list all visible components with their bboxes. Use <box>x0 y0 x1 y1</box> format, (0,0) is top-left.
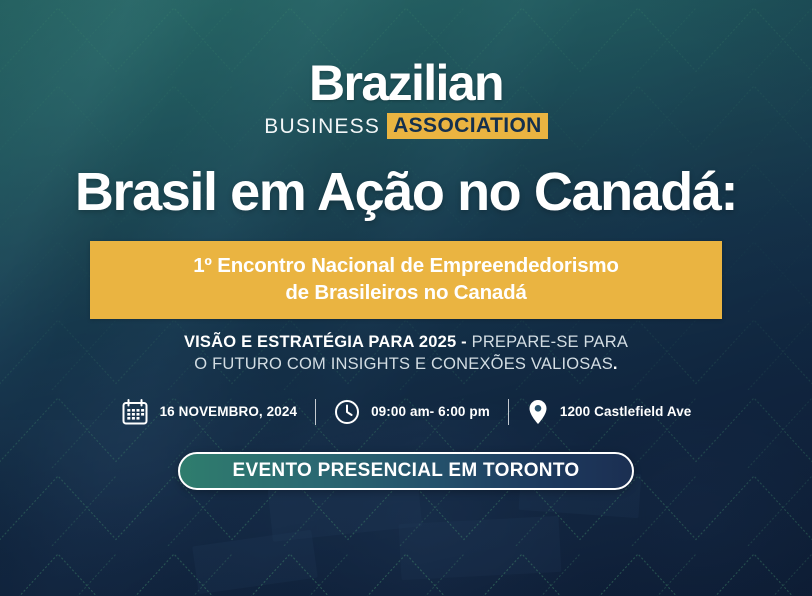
tagline-light-line-2: O FUTURO COM INSIGHTS E CONEXÕES VALIOSA… <box>194 355 613 373</box>
poster-content: Brazilian BUSINESS ASSOCIATION Brasil em… <box>0 0 812 596</box>
logo-business-text: BUSINESS <box>264 116 380 137</box>
map-pin-icon <box>527 398 549 426</box>
event-location-item: 1200 Castlefield Ave <box>527 398 692 426</box>
tagline-strong: VISÃO E ESTRATÉGIA PARA 2025 - <box>184 333 467 351</box>
event-subtitle-band: 1º Encontro Nacional de Empreendedorismo… <box>90 241 722 319</box>
cta-button-label: EVENTO PRESENCIAL EM TORONTO <box>233 460 580 482</box>
tagline-period: . <box>613 355 618 373</box>
details-divider <box>508 399 509 425</box>
logo-subline: BUSINESS ASSOCIATION <box>264 113 548 139</box>
cta-button[interactable]: EVENTO PRESENCIAL EM TORONTO <box>178 452 634 490</box>
brand-logo: Brazilian BUSINESS ASSOCIATION <box>264 58 548 139</box>
event-date-item: 16 NOVEMBRO, 2024 <box>121 398 298 426</box>
event-tagline: VISÃO E ESTRATÉGIA PARA 2025 - PREPARE-S… <box>184 332 628 376</box>
event-address-label: 1200 Castlefield Ave <box>560 404 692 419</box>
page-title: Brasil em Ação no Canadá: <box>75 161 737 223</box>
clock-icon <box>334 399 360 425</box>
logo-association-badge: ASSOCIATION <box>387 113 548 139</box>
event-date-label: 16 NOVEMBRO, 2024 <box>160 404 298 419</box>
event-subtitle-line-2: de Brasileiros no Canadá <box>100 279 712 306</box>
logo-wordmark: Brazilian <box>264 58 548 108</box>
event-poster: Brazilian BUSINESS ASSOCIATION Brasil em… <box>0 0 812 596</box>
event-time-label: 09:00 am- 6:00 pm <box>371 404 490 419</box>
calendar-icon <box>121 398 149 426</box>
event-time-item: 09:00 am- 6:00 pm <box>334 399 490 425</box>
event-details-row: 16 NOVEMBRO, 2024 09:00 am- 6:00 pm 1200… <box>121 398 692 426</box>
tagline-light-line-1: PREPARE-SE PARA <box>467 333 628 351</box>
event-subtitle-line-1: 1º Encontro Nacional de Empreendedorismo <box>100 252 712 279</box>
details-divider <box>315 399 316 425</box>
